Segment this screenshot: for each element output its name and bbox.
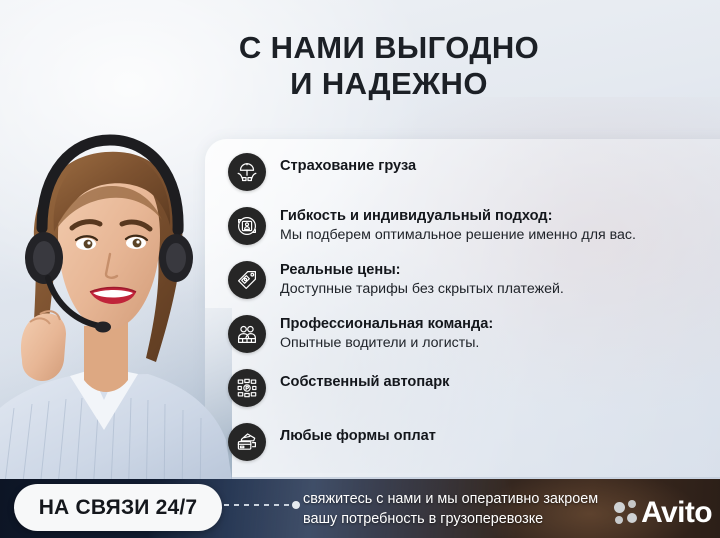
feature-desc: Мы подберем оптимальное решение именно д… [280,226,636,245]
cta-line-1: свяжитесь с нами и мы оперативно закроем [303,489,623,510]
feature-text: Профессиональная команда: Опытные водите… [280,314,493,353]
feature-title: Реальные цены: [280,261,564,280]
feature-text: Реальные цены: Доступные тарифы без скры… [280,260,564,299]
avito-dots-icon [614,500,640,526]
feature-item-team: Профессиональная команда: Опытные водите… [228,314,720,358]
feature-text: Страхование груза [280,152,416,181]
headline-line-2: И НАДЕЖНО [58,66,720,102]
feature-title: Собственный автопарк [280,369,449,397]
headline-line-1: С НАМИ ВЫГОДНО [58,30,720,66]
cta-text: свяжитесь с нами и мы оперативно закроем… [303,489,623,530]
status-badge: НА СВЯЗИ 24/7 [14,484,222,531]
feature-item-payments: Любые формы оплат [228,422,720,466]
feature-title: Страхование груза [280,153,416,181]
flexible-approach-icon [228,207,266,245]
feature-desc: Доступные тарифы без скрытых платежей. [280,280,564,299]
feature-item-insurance: Страхование груза [228,152,720,196]
feature-title: Профессиональная команда: [280,315,493,334]
headline: С НАМИ ВЫГОДНО И НАДЕЖНО [0,30,720,103]
feature-list: Страхование груза Гибкость и индивидуаль… [228,152,720,476]
feature-text: Гибкость и индивидуальный подход: Мы под… [280,206,636,245]
feature-item-fleet: Собственный автопарк [228,368,720,412]
connector-dot [292,501,300,509]
cta-line-2: вашу потребность в грузоперевозке [303,509,623,530]
team-icon [228,315,266,353]
feature-text: Собственный автопарк [280,368,449,397]
feature-title: Любые формы оплат [280,423,436,451]
feature-item-flexibility: Гибкость и индивидуальный подход: Мы под… [228,206,720,250]
wallet-payment-icon [228,423,266,461]
truck-fleet-icon [228,369,266,407]
price-tag-icon [228,261,266,299]
avito-logo: Avito [614,498,712,528]
feature-text: Любые формы оплат [280,422,436,451]
avatar [0,108,232,508]
feature-title: Гибкость и индивидуальный подход: [280,207,636,226]
connector-line [224,500,300,509]
connector-dash [224,504,291,506]
feature-item-prices: Реальные цены: Доступные тарифы без скры… [228,260,720,304]
advertisement-banner: С НАМИ ВЫГОДНО И НАДЕЖНО Страхование гру… [0,0,720,538]
avito-wordmark: Avito [641,498,712,528]
status-badge-label: НА СВЯЗИ 24/7 [39,496,198,520]
feature-desc: Опытные водители и логисты. [280,334,493,353]
umbrella-hands-icon [228,153,266,191]
